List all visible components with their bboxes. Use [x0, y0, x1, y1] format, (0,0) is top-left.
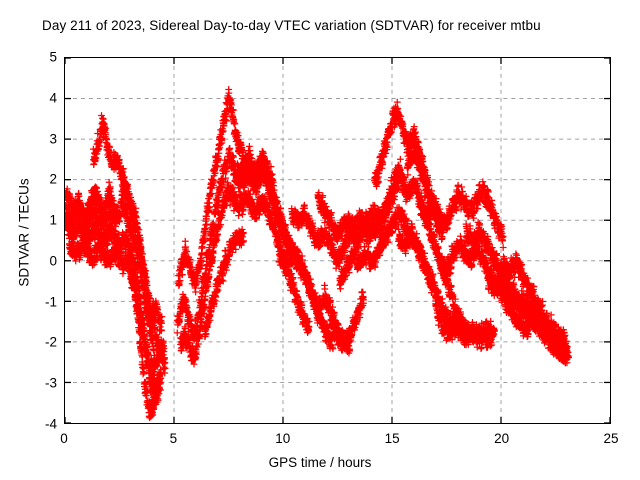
x-tick-25: 25	[603, 431, 618, 446]
x-tick-10: 10	[275, 431, 290, 446]
x-tick-0: 0	[60, 431, 68, 446]
plot-area	[64, 57, 611, 424]
y-tick--3: -3	[7, 376, 57, 391]
y-tick-1: 1	[7, 213, 57, 228]
chart-title: Day 211 of 2023, Sidereal Day-to-day VTE…	[42, 18, 541, 33]
y-tick-3: 3	[7, 131, 57, 146]
y-tick-2: 2	[7, 172, 57, 187]
chart-root: Day 211 of 2023, Sidereal Day-to-day VTE…	[0, 0, 640, 480]
x-tick-15: 15	[385, 431, 400, 446]
y-tick--2: -2	[7, 335, 57, 350]
y-tick-0: 0	[7, 253, 57, 268]
y-axis-title: SDTVAR / TECUs	[17, 143, 32, 323]
y-tick-4: 4	[7, 90, 57, 105]
x-tick-5: 5	[170, 431, 178, 446]
x-axis-tick-labels: 0510152025	[64, 431, 611, 451]
scatter-series-sdtvar	[65, 58, 610, 423]
y-tick--1: -1	[7, 294, 57, 309]
x-axis-title: GPS time / hours	[0, 455, 640, 470]
y-tick--4: -4	[7, 417, 57, 432]
x-tick-20: 20	[494, 431, 509, 446]
y-tick-5: 5	[7, 50, 57, 65]
